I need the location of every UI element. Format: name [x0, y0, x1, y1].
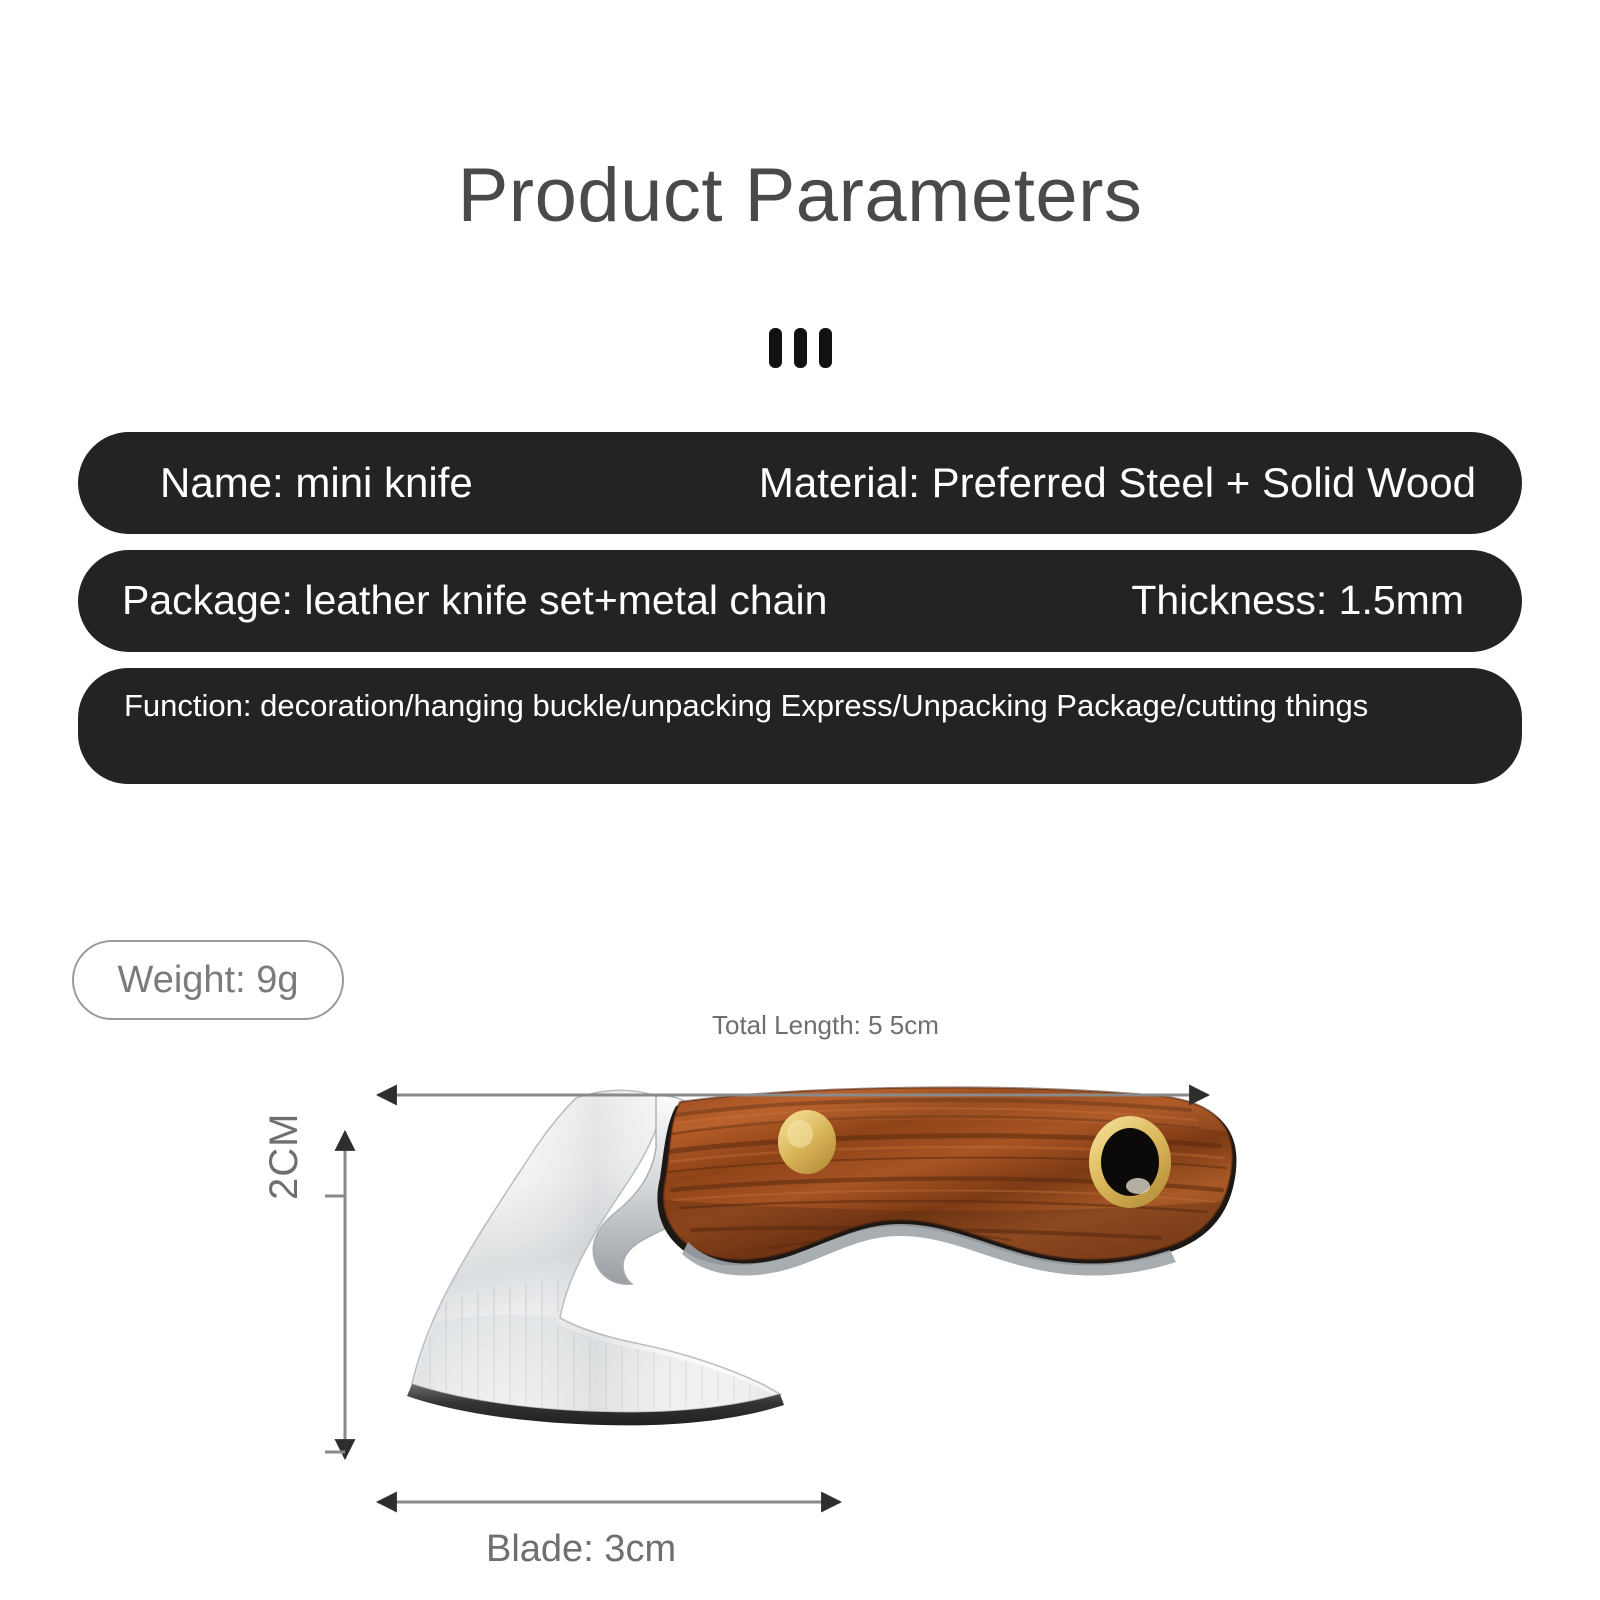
brass-pin: [778, 1110, 836, 1174]
blade-length-label: Blade: 3cm: [486, 1530, 676, 1568]
divider-bar-3: [819, 328, 832, 368]
spec-thickness-value: Thickness: 1.5mm: [1131, 578, 1464, 623]
total-length-label: Total Length: 5 5cm: [712, 1012, 939, 1038]
spec-row-function: Function: decoration/hanging buckle/unpa…: [78, 668, 1522, 784]
spec-row-name-material: Name: mini knife Material: Preferred Ste…: [78, 432, 1522, 534]
spec-pill-stack: Name: mini knife Material: Preferred Ste…: [78, 432, 1522, 784]
page-title: Product Parameters: [0, 158, 1600, 234]
weight-badge-label: Weight: 9g: [118, 961, 299, 999]
spec-material-value: Material: Preferred Steel + Solid Wood: [759, 460, 1476, 506]
spec-package-value: Package: leather knife set+metal chain: [122, 578, 827, 623]
three-bars-divider-icon: [0, 328, 1600, 368]
spec-function-value: Function: decoration/hanging buckle/unpa…: [124, 686, 1469, 726]
spec-row-package-thickness: Package: leather knife set+metal chain T…: [78, 550, 1522, 652]
height-label: 2CM: [264, 1113, 304, 1200]
spec-name-value: Name: mini knife: [160, 460, 473, 506]
divider-bar-2: [794, 328, 807, 368]
mini-axe-knife-image: [370, 1080, 1270, 1500]
divider-bar-1: [769, 328, 782, 368]
weight-badge: Weight: 9g: [72, 940, 344, 1020]
lanyard-hole: [1089, 1116, 1171, 1208]
